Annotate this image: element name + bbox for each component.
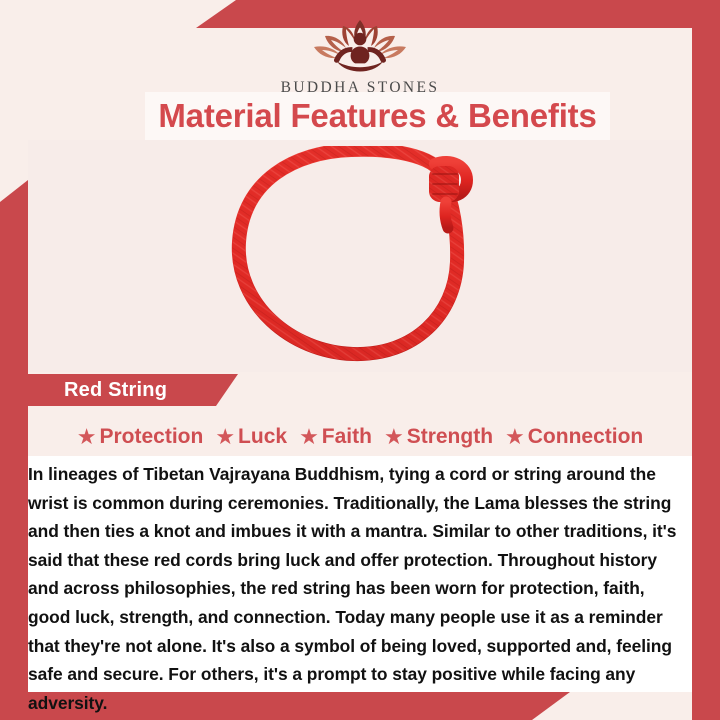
brand-logo-block: BUDDHA STONES xyxy=(0,14,720,92)
star-icon: ★ xyxy=(505,426,525,448)
title-band: Material Features & Benefits xyxy=(145,92,610,140)
frame-bar-left xyxy=(0,180,28,720)
feature-item-luck: ★ Luck xyxy=(212,425,290,449)
star-icon: ★ xyxy=(77,426,97,448)
star-icon: ★ xyxy=(299,426,319,448)
feature-label: Luck xyxy=(238,425,287,449)
lotus-meditation-icon xyxy=(297,14,423,77)
feature-label: Strength xyxy=(407,425,493,449)
frame-bar-right xyxy=(692,0,720,720)
feature-item-connection: ★ Connection xyxy=(502,425,646,449)
feature-item-strength: ★ Strength xyxy=(381,425,496,449)
page-title: Material Features & Benefits xyxy=(158,97,596,135)
star-icon: ★ xyxy=(384,426,404,448)
feature-label: Connection xyxy=(528,425,644,449)
feature-item-protection: ★ Protection xyxy=(74,425,207,449)
product-image-area xyxy=(28,140,692,372)
infographic-page: BUDDHA STONES Material Features & Benefi… xyxy=(0,0,720,720)
feature-item-faith: ★ Faith xyxy=(296,425,375,449)
red-braided-string-bracelet-icon xyxy=(229,146,491,367)
feature-label: Protection xyxy=(99,425,203,449)
description-paragraph: In lineages of Tibetan Vajrayana Buddhis… xyxy=(28,460,678,717)
star-icon: ★ xyxy=(215,426,235,448)
section-ribbon-label: Red String xyxy=(28,379,167,402)
feature-label: Faith xyxy=(322,425,372,449)
features-row: ★ Protection ★ Luck ★ Faith ★ Strength ★… xyxy=(28,418,692,456)
section-ribbon: Red String xyxy=(28,374,238,406)
description-panel: In lineages of Tibetan Vajrayana Buddhis… xyxy=(28,456,692,692)
